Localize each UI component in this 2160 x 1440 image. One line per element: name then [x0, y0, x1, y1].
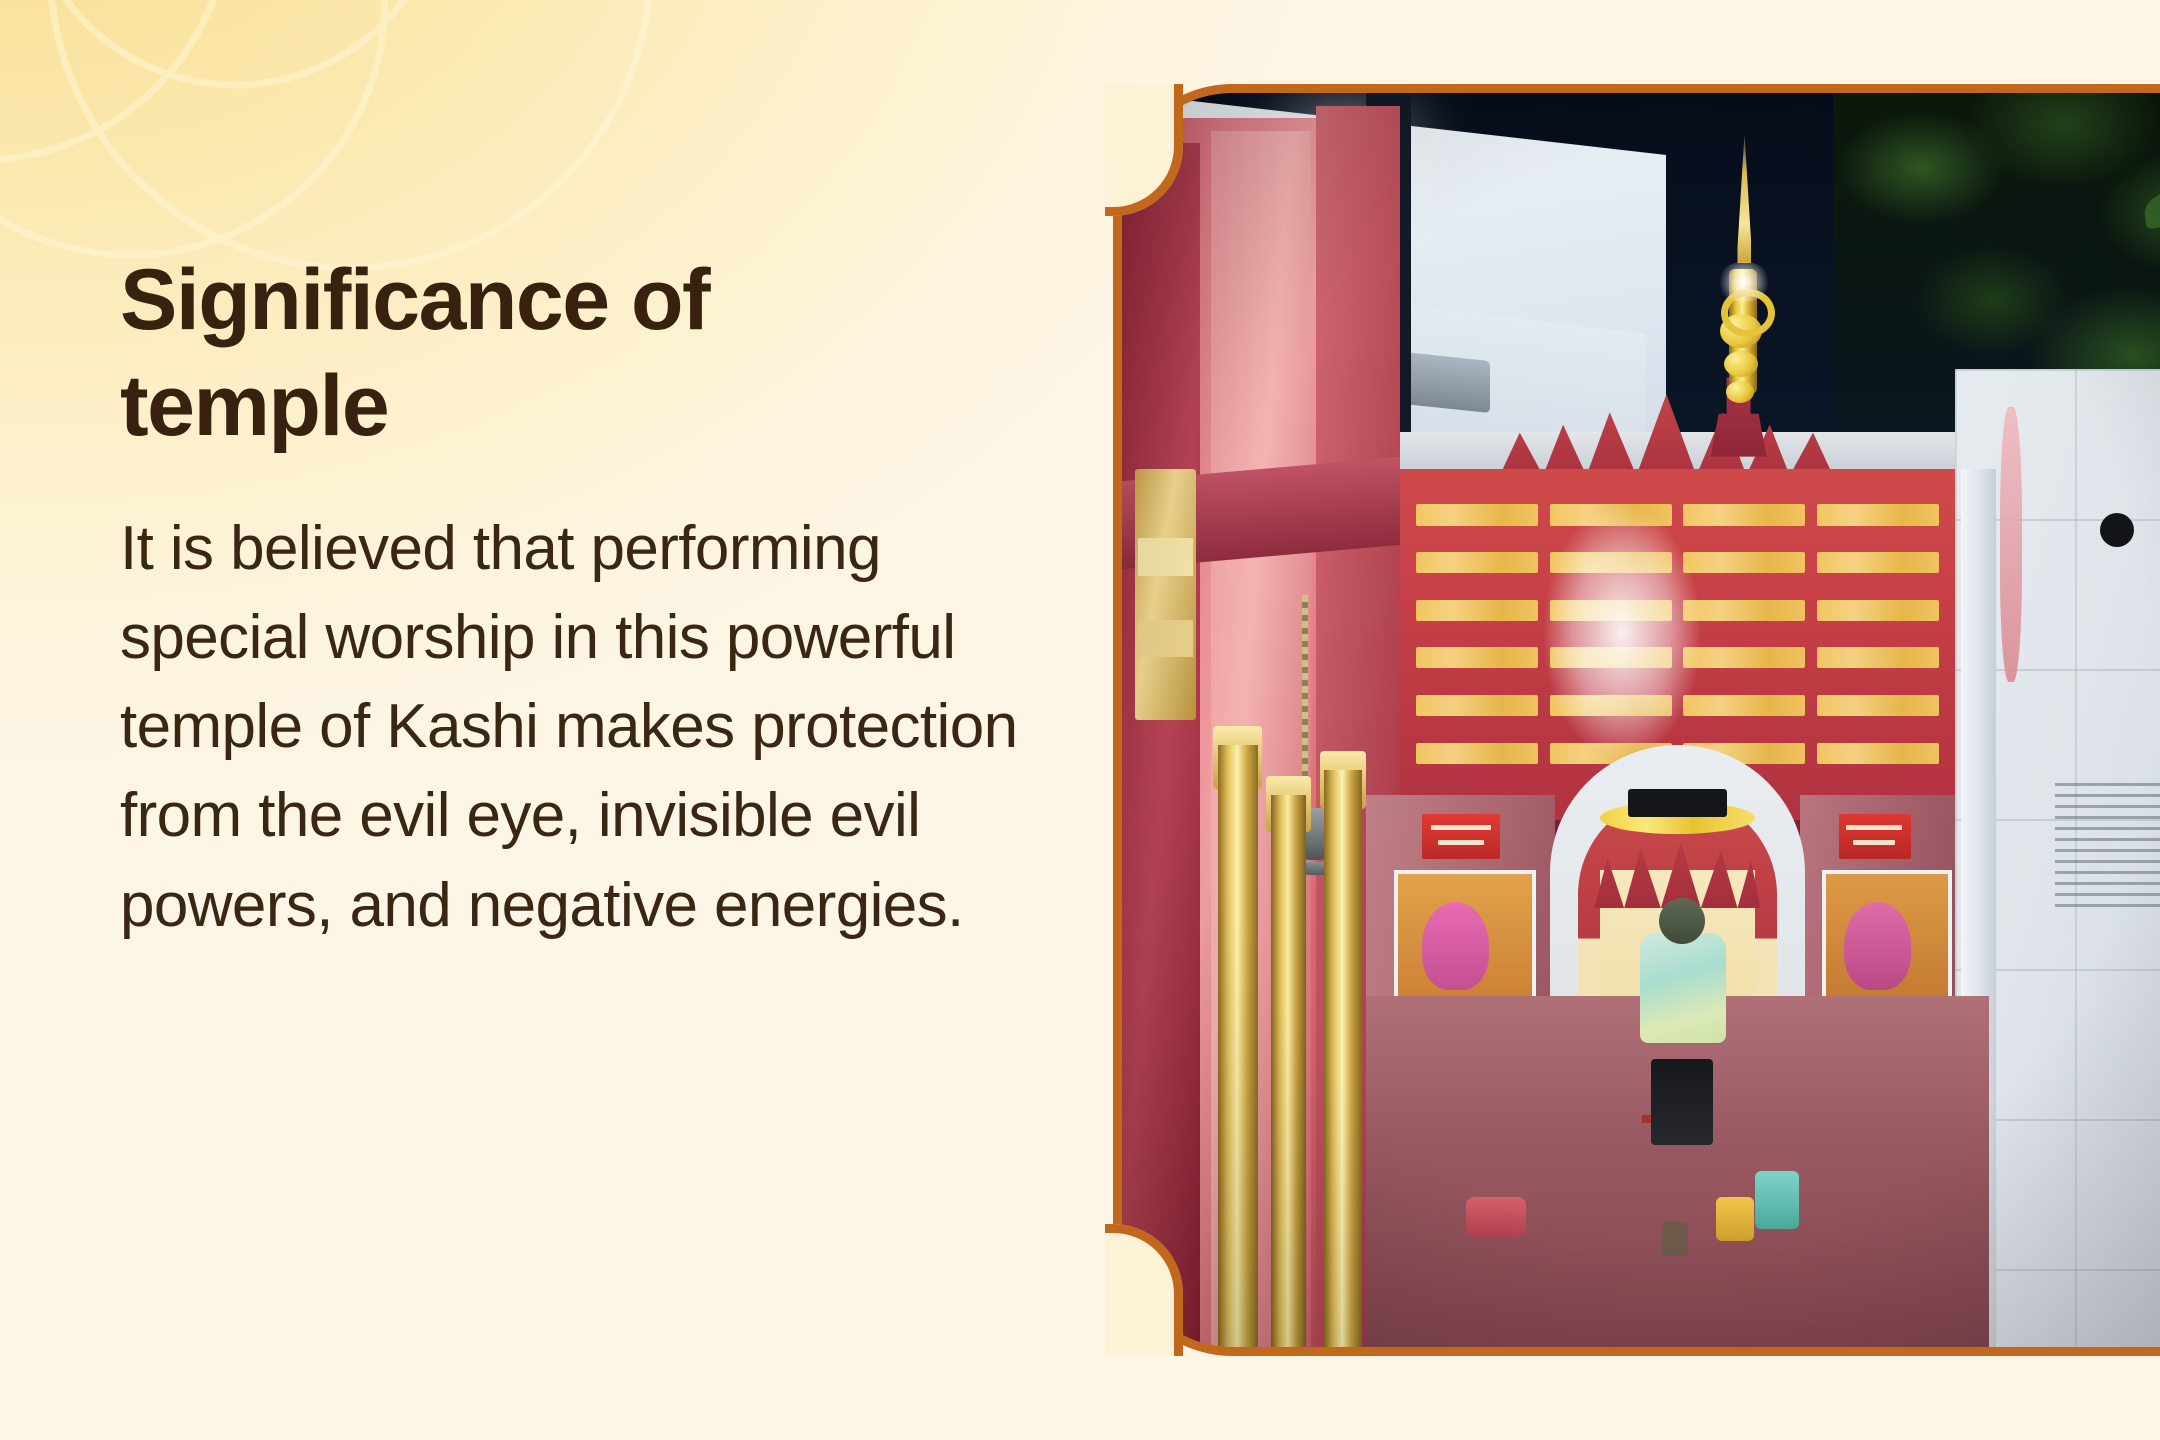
body-paragraph: It is believed that performing special w…: [120, 504, 1025, 950]
text-column: Significance of temple It is believed th…: [120, 248, 1025, 950]
page-title: Significance of temple: [120, 248, 820, 460]
photo-vignette: [1122, 93, 2160, 1347]
temple-photo: [1122, 93, 2160, 1347]
temple-photo-frame: [1113, 84, 2160, 1356]
